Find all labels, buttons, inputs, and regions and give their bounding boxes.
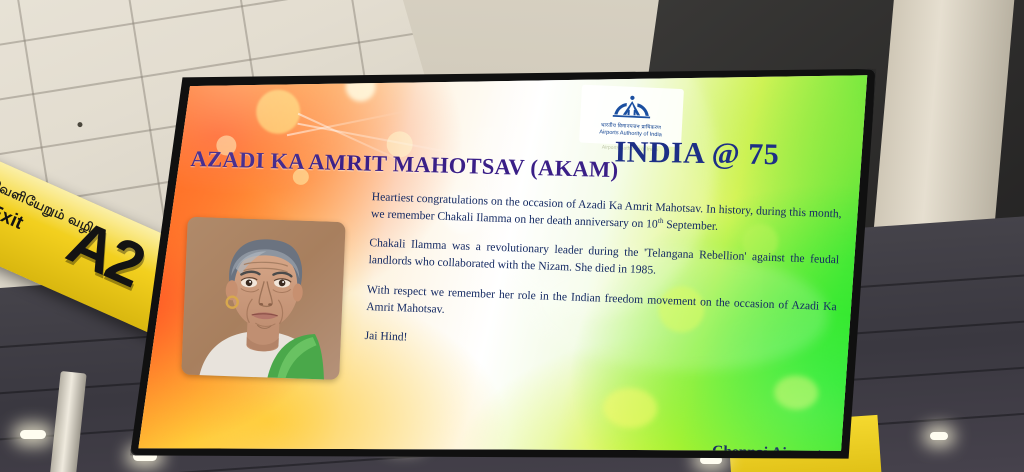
information-display-screen[interactable]: भारतीय विमानपत्तन प्राधिकरण Airports Aut…	[130, 36, 876, 472]
display-screen-surface: भारतीय विमानपत्तन प्राधिकरण Airports Aut…	[130, 36, 876, 472]
closing-salutation: Jai Hind!	[364, 327, 834, 361]
paragraph-1-text: Heartiest congratulations on the occasio…	[371, 190, 842, 231]
portrait-illustration	[181, 217, 346, 380]
aai-logo-icon	[611, 94, 652, 122]
paragraph-1: Heartiest congratulations on the occasio…	[371, 188, 842, 240]
slide-body-text: Heartiest congratulations on the occasio…	[364, 186, 842, 363]
paragraph-2: Chakali Ilamma was a revolutionary leade…	[368, 234, 839, 286]
ceiling-light	[930, 432, 948, 440]
paragraph-1-tail: September.	[663, 218, 718, 233]
ceiling-light	[20, 430, 46, 439]
slide-title-sub: INDIA @ 75	[614, 135, 779, 172]
portrait-chakali-ilamma	[181, 217, 346, 380]
airport-terminal-scene: வெளியேறும் வழி Exit A2	[0, 0, 1024, 472]
paragraph-3: With respect we remember her role in the…	[366, 281, 837, 333]
slide-title-main: AZADI KA AMRIT MAHOTSAV (AKAM)	[190, 146, 619, 183]
